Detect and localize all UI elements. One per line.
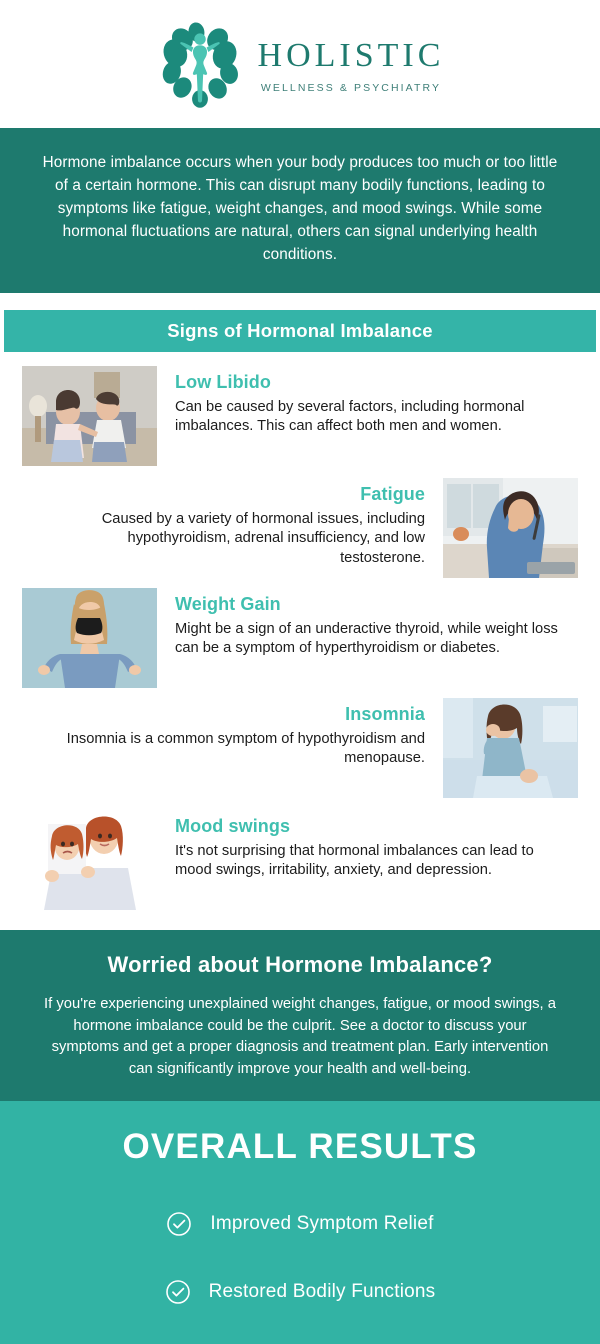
worried-text: If you're experiencing unexplained weigh… [28, 994, 572, 1082]
spacer [0, 293, 600, 310]
woman-holding-mask-photo [22, 810, 157, 910]
symptom-description: Might be a sign of an underactive thyroi… [175, 620, 560, 659]
results-section: OVERALL RESULTS Improved Symptom Relief … [0, 1101, 600, 1344]
symptom-body: Fatigue Caused by a variety of hormonal … [40, 478, 443, 569]
signs-banner-title: Signs of Hormonal Imbalance [167, 320, 432, 342]
symptom-description: It's not surprising that hormonal imbala… [175, 842, 560, 881]
woman-awake-in-bed-photo [443, 698, 578, 798]
symptom-body: Low Libido Can be caused by several fact… [157, 366, 560, 437]
worried-title: Worried about Hormone Imbalance? [28, 952, 572, 978]
tree-person-logo-icon [156, 18, 244, 110]
list-item: Insomnia Insomnia is a common symptom of… [0, 698, 600, 798]
symptom-list: Low Libido Can be caused by several fact… [0, 352, 600, 930]
brand-header: HOLISTIC WELLNESS & PSYCHIATRY [0, 0, 600, 128]
woman-in-oversized-jeans-photo [22, 588, 157, 688]
infographic-page: HOLISTIC WELLNESS & PSYCHIATRY Hormone i… [0, 0, 600, 1344]
list-item: Low Libido Can be caused by several fact… [0, 366, 600, 466]
list-item: Mood swings It's not surprising that hor… [0, 810, 600, 910]
intro-paragraph: Hormone imbalance occurs when your body … [0, 128, 600, 293]
result-label: Improved Symptom Relief [210, 1213, 433, 1235]
brand-tagline: WELLNESS & PSYCHIATRY [261, 82, 441, 94]
symptom-title: Insomnia [40, 704, 425, 725]
symptom-body: Insomnia Insomnia is a common symptom of… [40, 698, 443, 769]
result-label: Restored Bodily Functions [209, 1281, 436, 1303]
results-title: OVERALL RESULTS [0, 1127, 600, 1167]
symptom-body: Weight Gain Might be a sign of an undera… [157, 588, 560, 659]
symptom-title: Mood swings [175, 816, 560, 837]
result-item: Improved Symptom Relief [0, 1211, 600, 1237]
check-circle-icon [166, 1211, 192, 1237]
tired-woman-at-desk-photo [443, 478, 578, 578]
symptom-description: Can be caused by several factors, includ… [175, 398, 560, 437]
brand-name: HOLISTIC [258, 39, 445, 73]
symptom-body: Mood swings It's not surprising that hor… [157, 810, 560, 881]
symptom-title: Weight Gain [175, 594, 560, 615]
signs-banner: Signs of Hormonal Imbalance [4, 310, 596, 352]
couple-sitting-on-bed-photo [22, 366, 157, 466]
result-item: Restored Bodily Functions [0, 1279, 600, 1305]
symptom-title: Fatigue [40, 484, 425, 505]
symptom-description: Caused by a variety of hormonal issues, … [40, 510, 425, 569]
symptom-description: Insomnia is a common symptom of hypothyr… [40, 730, 425, 769]
logo: HOLISTIC WELLNESS & PSYCHIATRY [156, 18, 445, 110]
check-circle-icon [165, 1279, 191, 1305]
worried-section: Worried about Hormone Imbalance? If you'… [0, 930, 600, 1102]
list-item: Fatigue Caused by a variety of hormonal … [0, 478, 600, 578]
logo-wordmark: HOLISTIC WELLNESS & PSYCHIATRY [258, 35, 445, 94]
list-item: Weight Gain Might be a sign of an undera… [0, 588, 600, 688]
symptom-title: Low Libido [175, 372, 560, 393]
